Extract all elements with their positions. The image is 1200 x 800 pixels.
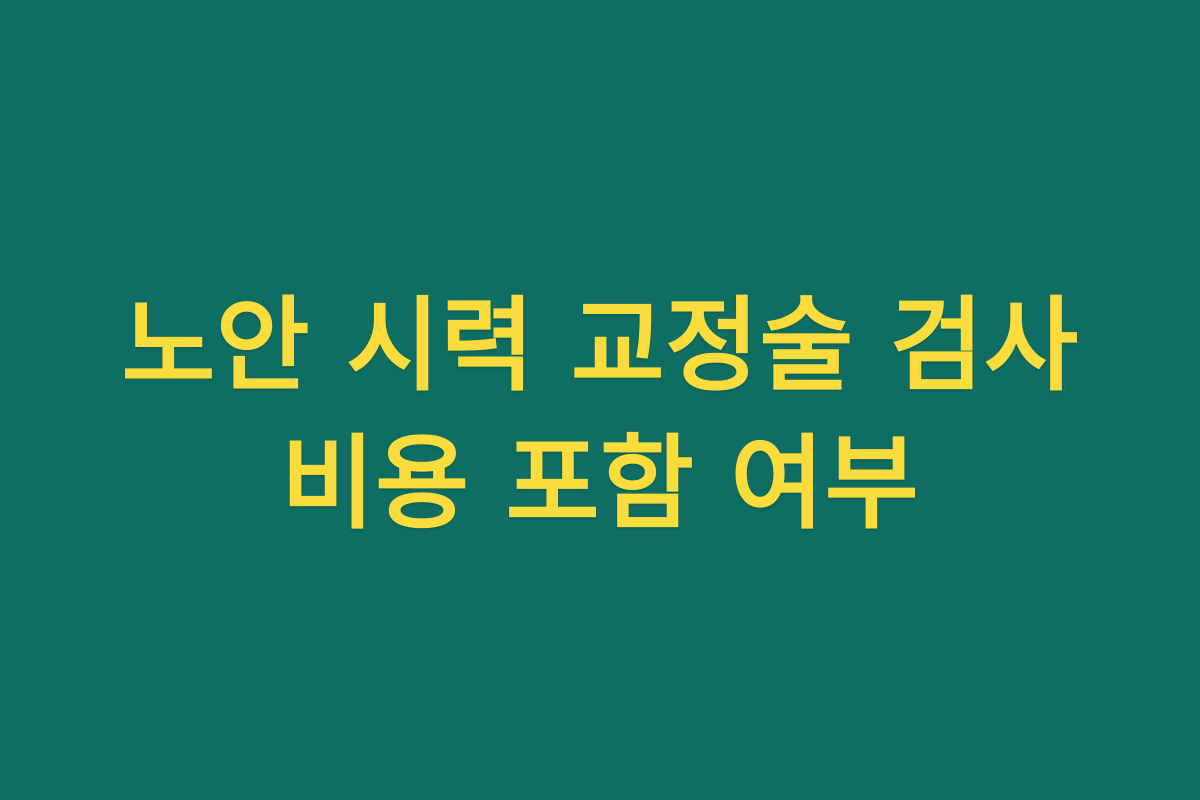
headline-line-2: 비용 포함 여부 [281, 416, 919, 554]
headline-block: 노안 시력 교정술 검사 비용 포함 여부 [0, 278, 1200, 554]
banner-canvas: 노안 시력 교정술 검사 비용 포함 여부 [0, 0, 1200, 800]
headline-line-1: 노안 시력 교정술 검사 [121, 278, 1078, 416]
